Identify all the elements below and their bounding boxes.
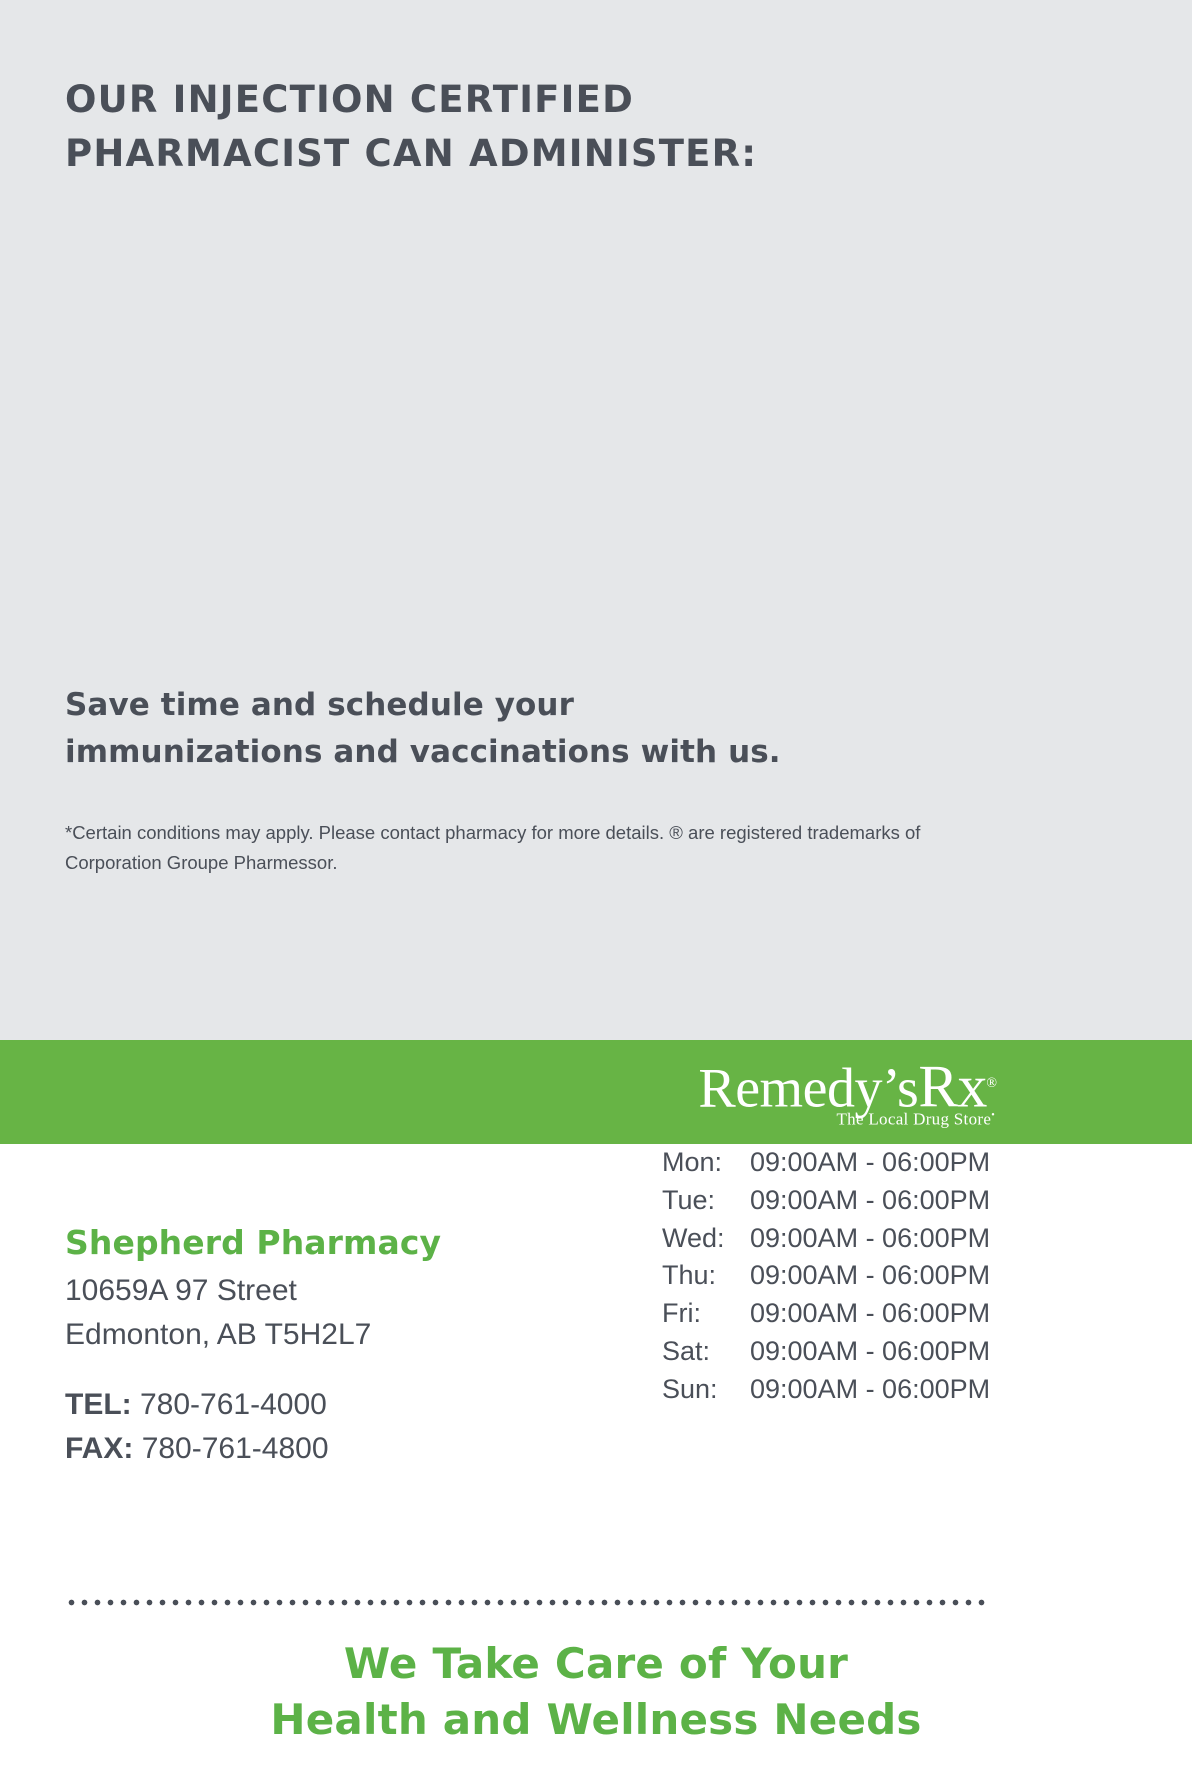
store-hours-table: Mon: 09:00AM - 06:00PM Tue: 09:00AM - 06… xyxy=(662,1144,1122,1409)
store-name: Shepherd Pharmacy xyxy=(65,1222,605,1264)
store-contact: TEL: 780-761-4000 FAX: 780-761-4800 xyxy=(65,1383,605,1471)
logo-tagline-text: The Local Drug Store xyxy=(836,1110,991,1129)
hours-row: Tue: 09:00AM - 06:00PM xyxy=(662,1182,1122,1220)
subheadline-line-1: Save time and schedule your xyxy=(65,682,985,729)
headline-line-1: OUR INJECTION CERTIFIED xyxy=(65,73,1065,127)
hours-day-label: Thu: xyxy=(662,1257,750,1295)
hours-row: Wed: 09:00AM - 06:00PM xyxy=(662,1220,1122,1258)
hours-time-value: 09:00AM - 06:00PM xyxy=(750,1182,1122,1220)
hours-row: Sun: 09:00AM - 06:00PM xyxy=(662,1371,1122,1409)
hours-time-value: 09:00AM - 06:00PM xyxy=(750,1371,1122,1409)
logo-wordmark: Remedy’sRx® xyxy=(698,1057,997,1117)
hours-row: Fri: 09:00AM - 06:00PM xyxy=(662,1295,1122,1333)
telephone-label: TEL: xyxy=(65,1388,132,1421)
brand-bar: Remedy’sRx® The Local Drug Store• xyxy=(0,1040,1192,1144)
store-address: 10659A 97 Street Edmonton, AB T5H2L7 xyxy=(65,1269,605,1357)
hours-day-label: Sat: xyxy=(662,1333,750,1371)
telephone-row: TEL: 780-761-4000 xyxy=(65,1383,605,1427)
hours-day-label: Wed: xyxy=(662,1220,750,1258)
top-gray-panel: OUR INJECTION CERTIFIED PHARMACIST CAN A… xyxy=(0,0,1192,1040)
hours-day-label: Tue: xyxy=(662,1182,750,1220)
page-headline: OUR INJECTION CERTIFIED PHARMACIST CAN A… xyxy=(65,73,1065,180)
footer-tagline-line-2: Health and Wellness Needs xyxy=(0,1692,1192,1748)
headline-line-2: PHARMACIST CAN ADMINISTER: xyxy=(65,127,1065,181)
sub-headline: Save time and schedule your immunization… xyxy=(65,682,985,776)
hours-row: Sat: 09:00AM - 06:00PM xyxy=(662,1333,1122,1371)
hours-row: Mon: 09:00AM - 06:00PM xyxy=(662,1144,1122,1182)
hours-time-value: 09:00AM - 06:00PM xyxy=(750,1257,1122,1295)
footer-tagline: We Take Care of Your Health and Wellness… xyxy=(0,1636,1192,1748)
store-info-area: Shepherd Pharmacy 10659A 97 Street Edmon… xyxy=(0,1144,1192,1785)
subheadline-line-2: immunizations and vaccinations with us. xyxy=(65,729,985,776)
address-line-2: Edmonton, AB T5H2L7 xyxy=(65,1313,605,1357)
hours-time-value: 09:00AM - 06:00PM xyxy=(750,1220,1122,1258)
hours-row: Thu: 09:00AM - 06:00PM xyxy=(662,1257,1122,1295)
trademark-mark-icon: • xyxy=(991,1110,995,1121)
disclaimer-text: *Certain conditions may apply. Please co… xyxy=(65,818,995,878)
hours-time-value: 09:00AM - 06:00PM xyxy=(750,1333,1122,1371)
disclaimer-line-2: Corporation Groupe Pharmessor. xyxy=(65,848,995,878)
footer-tagline-line-1: We Take Care of Your xyxy=(0,1636,1192,1692)
fax-value: 780-761-4800 xyxy=(142,1432,329,1465)
dotted-divider xyxy=(65,1599,990,1606)
hours-time-value: 09:00AM - 06:00PM xyxy=(750,1295,1122,1333)
hours-time-value: 09:00AM - 06:00PM xyxy=(750,1144,1122,1182)
telephone-value[interactable]: 780-761-4000 xyxy=(140,1388,327,1421)
address-line-1: 10659A 97 Street xyxy=(65,1269,605,1313)
hours-day-label: Fri: xyxy=(662,1295,750,1333)
remedysrx-logo: Remedy’sRx® The Local Drug Store• xyxy=(698,1057,997,1128)
fax-label: FAX: xyxy=(65,1432,133,1465)
fax-row: FAX: 780-761-4800 xyxy=(65,1427,605,1471)
registered-mark-icon: ® xyxy=(986,1076,997,1091)
hours-day-label: Mon: xyxy=(662,1144,750,1182)
hours-day-label: Sun: xyxy=(662,1371,750,1409)
disclaimer-line-1: *Certain conditions may apply. Please co… xyxy=(65,818,995,848)
store-details: Shepherd Pharmacy 10659A 97 Street Edmon… xyxy=(65,1222,605,1470)
